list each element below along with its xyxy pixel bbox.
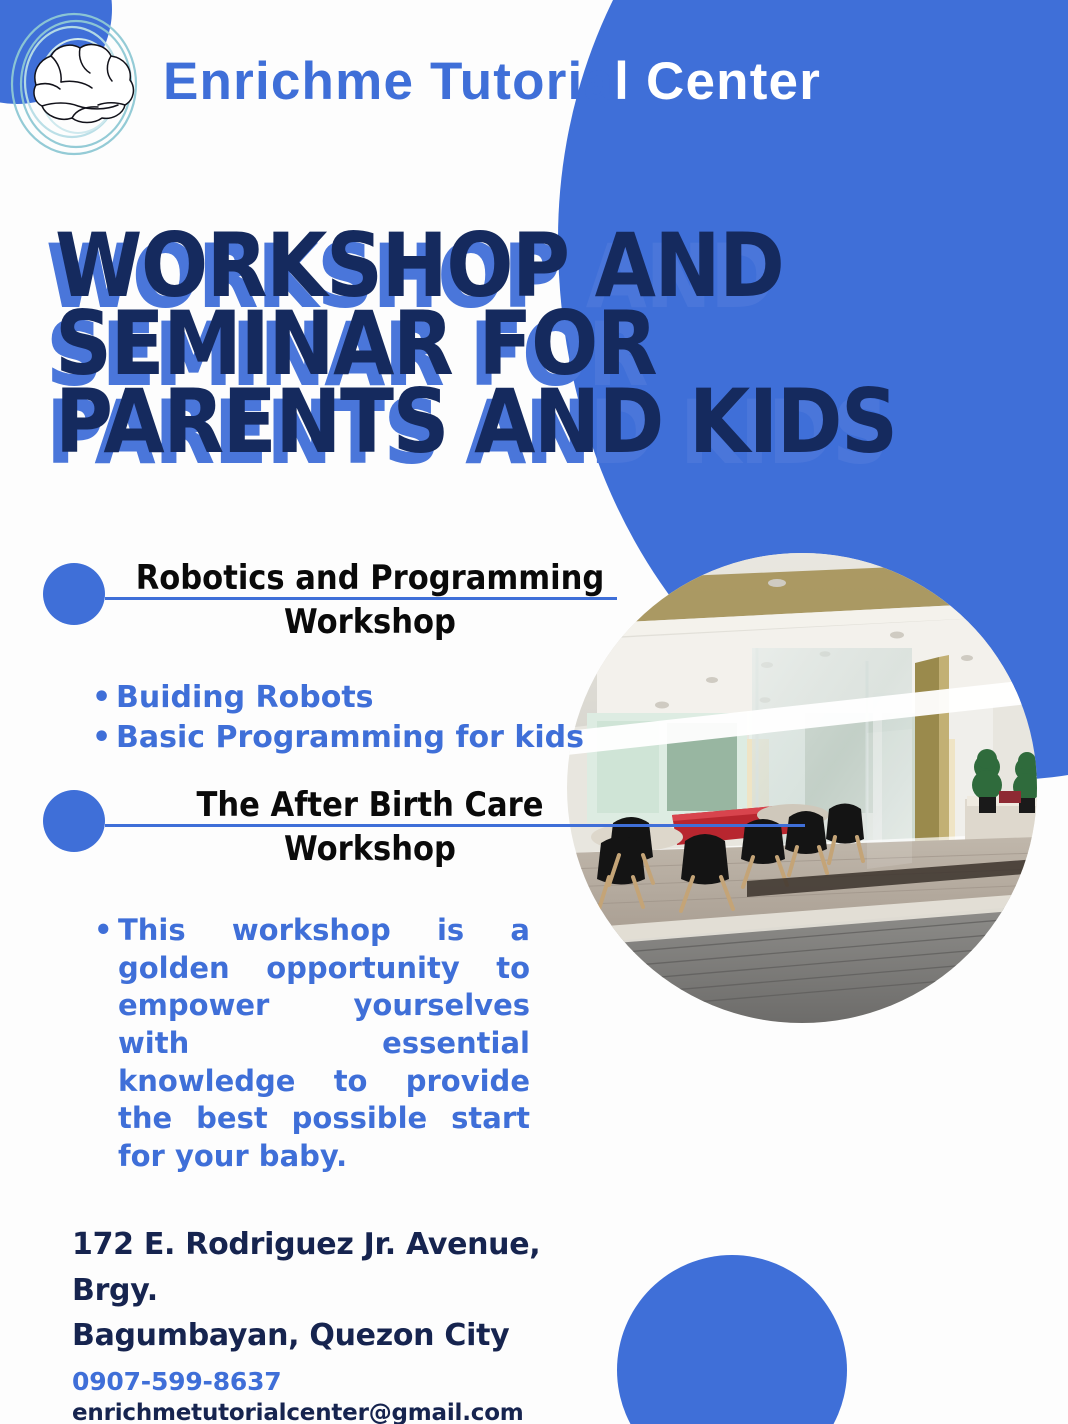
section-2-heading: The After Birth Care Workshop bbox=[160, 783, 580, 871]
list-item: Basic Programming for kids bbox=[116, 718, 586, 758]
section-1-heading: Robotics and Programming Workshop bbox=[130, 556, 610, 644]
list-item: This workshop is a golden opportunity to… bbox=[118, 912, 530, 1176]
classroom-photo bbox=[567, 553, 1037, 1023]
brain-icon bbox=[6, 10, 156, 160]
section-2-bullet-list: This workshop is a golden opportunity to… bbox=[118, 912, 530, 1176]
page-title: WORKSHOP AND WORKSHOP AND SEMINAR FOR SE… bbox=[55, 233, 1035, 467]
poster-canvas: Enrichme Tutorial Center Enrichme Tutori… bbox=[0, 0, 1068, 1424]
section-1-bullet-list: Buiding Robots Basic Programming for kid… bbox=[116, 678, 586, 758]
phone-number: 0907-599-8637 bbox=[72, 1367, 612, 1396]
list-item: Buiding Robots bbox=[116, 678, 586, 718]
headline-line-3: PARENTS AND KIDS PARENTS AND KIDS bbox=[55, 389, 1035, 467]
bottom-right-blue-circle bbox=[617, 1255, 847, 1424]
contact-footer: 172 E. Rodriguez Jr. Avenue, Brgy. Bagum… bbox=[72, 1222, 612, 1424]
address-line-1: 172 E. Rodriguez Jr. Avenue, Brgy. bbox=[72, 1222, 612, 1313]
section-2-bullet-dot bbox=[43, 790, 105, 852]
headline-line-3-text: PARENTS AND KIDS bbox=[55, 370, 896, 473]
email-address: enrichmetutorialcenter@gmail.com bbox=[72, 1400, 612, 1424]
address-line-2: Bagumbayan, Quezon City bbox=[72, 1313, 612, 1359]
section-1-bullet-dot bbox=[43, 563, 105, 625]
